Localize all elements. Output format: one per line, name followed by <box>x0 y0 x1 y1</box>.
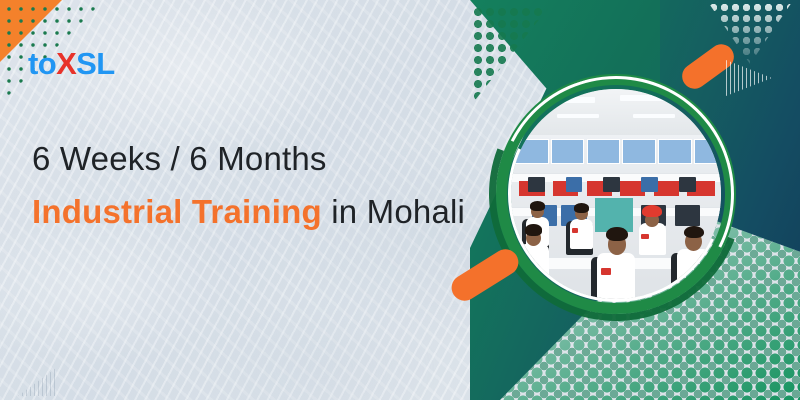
logo-text-to: to <box>28 46 56 81</box>
headline-rest-text: in Mohali <box>322 193 465 230</box>
headline-accent-text: Industrial Training <box>32 193 322 230</box>
toxsl-logo[interactable]: toXSL <box>28 48 115 79</box>
logo-text-x: X <box>56 46 76 81</box>
headline-line-1: 6 Weeks / 6 Months <box>32 140 502 179</box>
logo-text-sl: SL <box>76 46 114 81</box>
circular-photo-frame <box>496 74 736 314</box>
headline-line-2: Industrial Training in Mohali <box>32 193 502 232</box>
training-promo-banner: toXSL 6 Weeks / 6 Months Industrial Trai… <box>0 0 800 400</box>
headline-block: 6 Weeks / 6 Months Industrial Training i… <box>32 140 502 232</box>
